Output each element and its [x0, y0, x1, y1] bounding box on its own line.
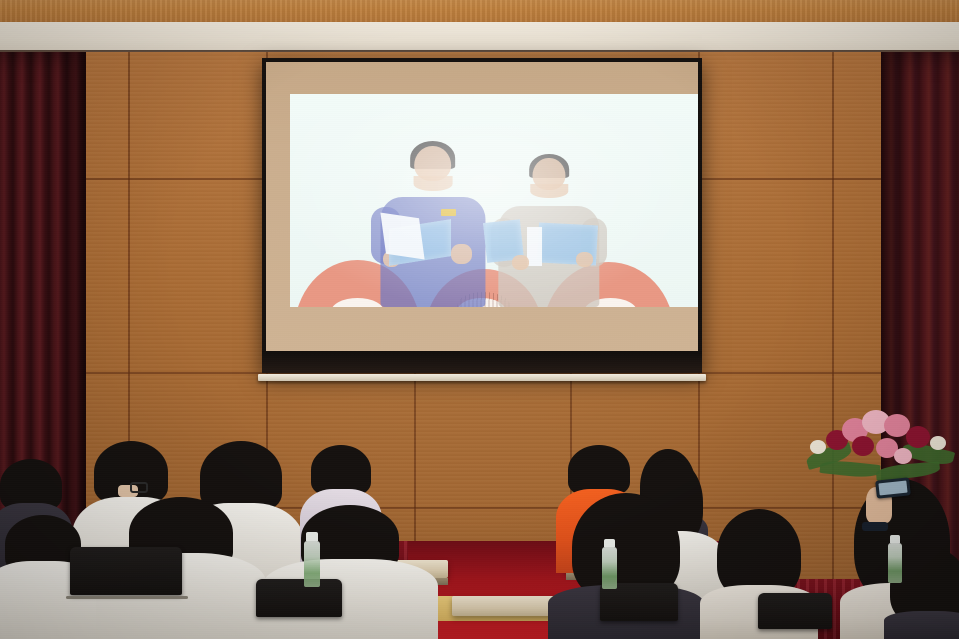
floral-arrangement	[806, 404, 956, 490]
panel-line	[832, 52, 834, 612]
chair-rail	[66, 596, 188, 599]
rose-bloom	[852, 436, 874, 456]
bottle-cap	[604, 539, 615, 547]
water-bottle	[602, 547, 617, 589]
projected-speaker-left	[376, 141, 490, 307]
speaker-hand	[576, 252, 594, 267]
wristband	[862, 522, 888, 531]
speaker-badge-icon	[441, 209, 456, 216]
ceiling-soffit	[0, 22, 959, 52]
eyeglasses-icon	[130, 482, 148, 493]
lily-bloom	[894, 448, 912, 464]
smartphone-icon	[875, 477, 911, 498]
chair-back	[70, 547, 182, 595]
water-bottle	[304, 541, 320, 587]
projection-screen-surface	[266, 62, 698, 351]
screen-bottom-bar	[262, 351, 702, 373]
chair-back	[256, 579, 342, 617]
speaker-hand	[451, 244, 472, 264]
water-bottle	[888, 543, 902, 583]
attendee-torso	[884, 611, 959, 639]
rose-bloom	[906, 426, 930, 448]
attendee-hair	[311, 445, 371, 495]
attendee-10	[262, 505, 438, 639]
speaker-hand	[512, 255, 530, 270]
filler-bloom	[810, 440, 826, 454]
projected-video-image	[290, 94, 698, 307]
conference-hall-photo	[0, 0, 959, 639]
phone-screen	[878, 481, 907, 496]
chair-back	[758, 593, 832, 629]
speaker-collar	[413, 176, 452, 191]
bottle-cap	[890, 535, 900, 543]
folder-page	[380, 212, 424, 259]
speaker-collar	[530, 184, 567, 198]
screen-weight-bar	[258, 374, 706, 381]
projected-speaker-right	[494, 154, 604, 307]
projection-screen	[262, 58, 702, 373]
ceiling-wood-trim	[0, 0, 959, 22]
foliage	[819, 459, 880, 479]
folder-page	[527, 227, 542, 265]
filler-bloom	[930, 436, 946, 450]
bottle-cap	[306, 532, 318, 541]
